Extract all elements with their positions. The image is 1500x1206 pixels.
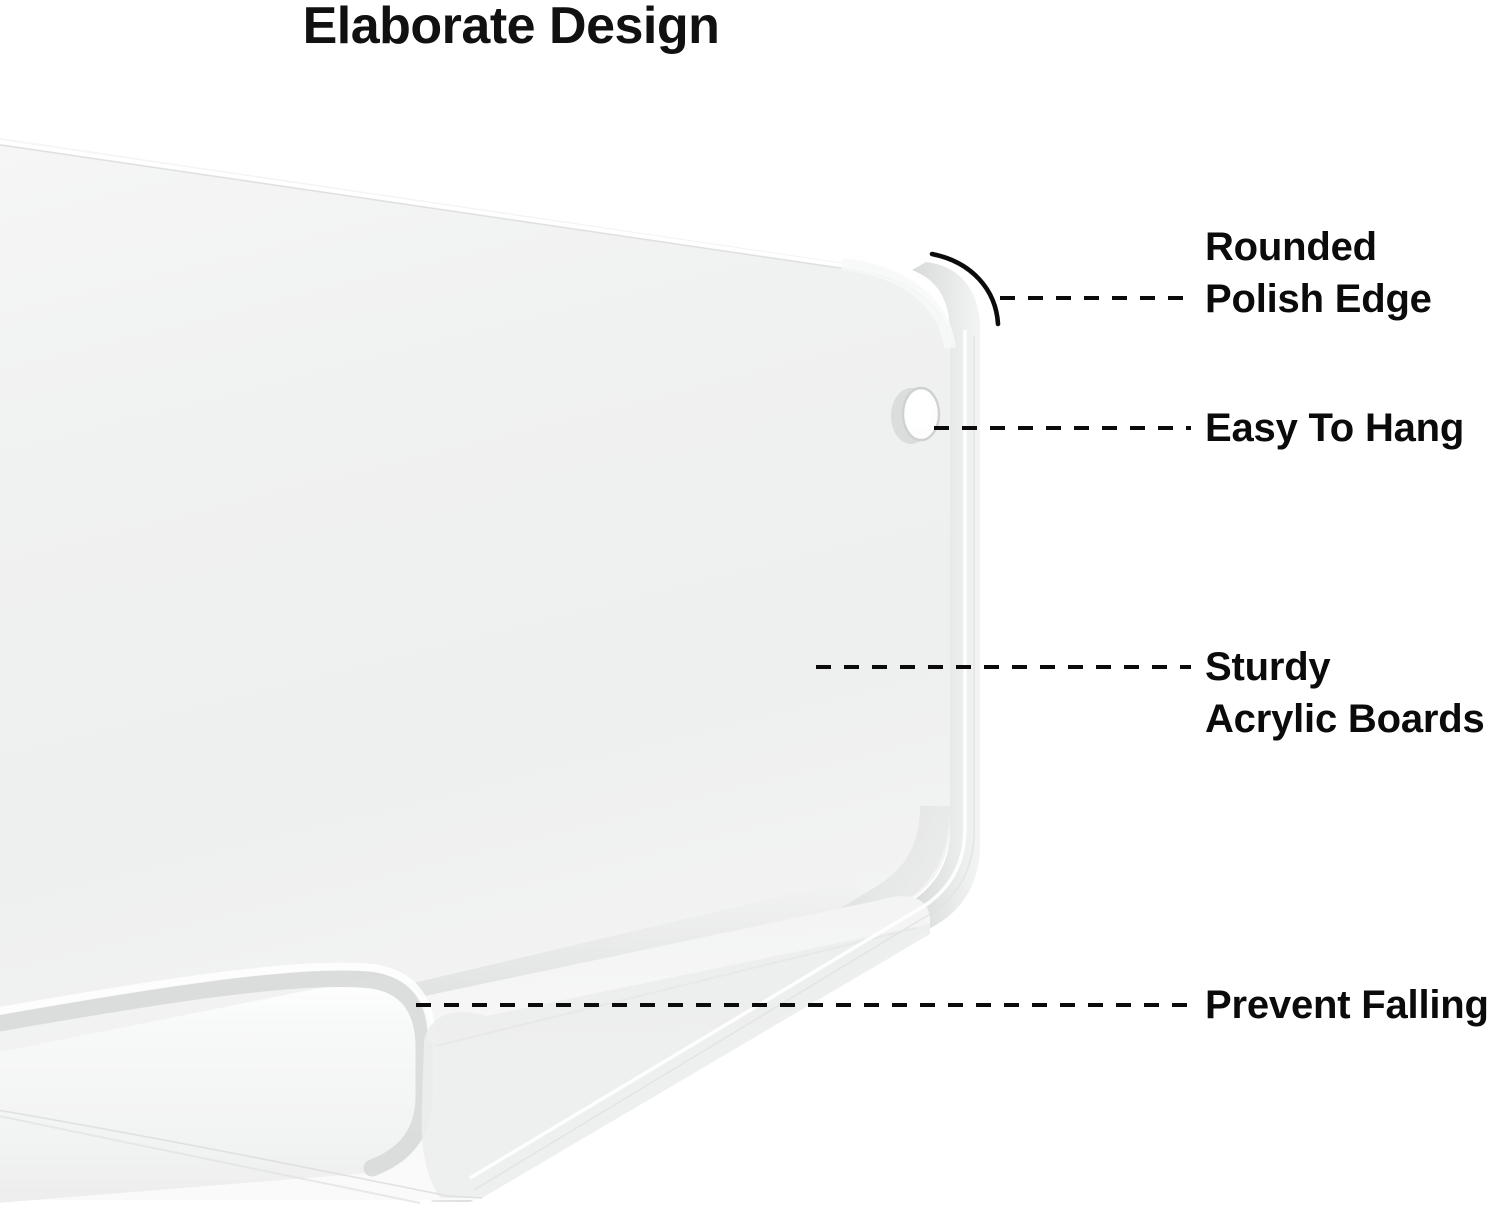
callout-label-easy-to-hang: Easy To Hang bbox=[1205, 402, 1464, 454]
hanging-hole-group bbox=[891, 388, 939, 444]
hanging-hole-inner-highlight bbox=[906, 390, 932, 430]
callout-label-sturdy-acrylic-boards: Sturdy Acrylic Boards bbox=[1205, 641, 1485, 745]
infographic-canvas: Elaborate Design Rounded Polish Edge Eas… bbox=[0, 0, 1500, 1206]
page-title: Elaborate Design bbox=[0, 0, 1022, 56]
callout-label-rounded-polish-edge: Rounded Polish Edge bbox=[1205, 221, 1432, 325]
callout-label-prevent-falling: Prevent Falling bbox=[1205, 979, 1489, 1031]
